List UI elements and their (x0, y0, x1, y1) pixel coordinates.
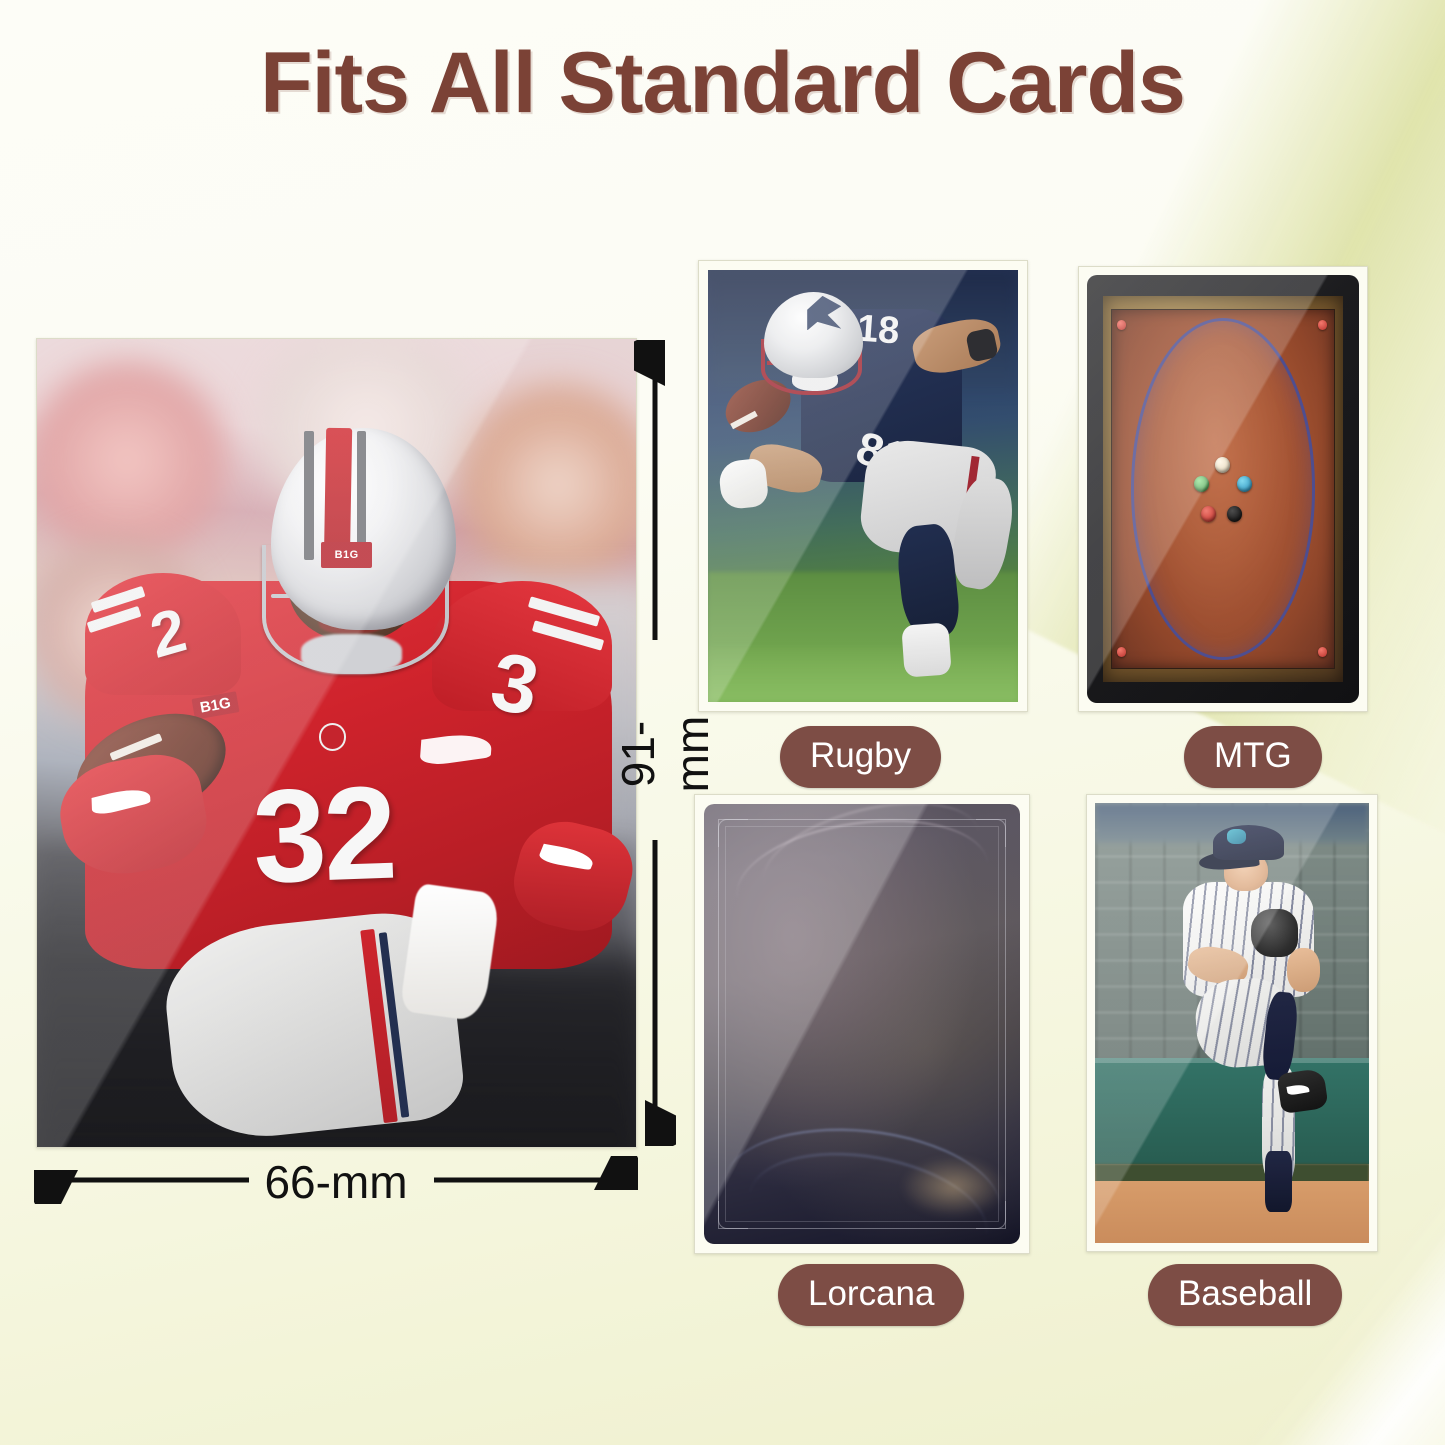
helmet-chinstrap (301, 634, 403, 674)
card-photo-baseball (1095, 803, 1369, 1243)
card-photo-main-football: 2 3 B1G 32 B (37, 339, 636, 1147)
card-photo-lorcana (704, 804, 1020, 1244)
page-title: Fits All Standard Cards (0, 34, 1445, 133)
player-hand-rugby (718, 458, 769, 510)
corner-ornament-bottom-right-lorcana (976, 1201, 1005, 1228)
helmet-stripe-grey-left (304, 431, 314, 560)
card-sleeve-baseball (1086, 794, 1378, 1252)
card-frame-inner-lorcana (725, 826, 1000, 1222)
card-label-rugby: Rugby (780, 726, 941, 788)
big-ten-logo-helmet: B1G (321, 542, 373, 568)
infield-dirt (1095, 1181, 1369, 1243)
mana-pip-blue-icon (1237, 476, 1252, 492)
card-label-mtg: MTG (1184, 726, 1322, 788)
card-label-lorcana: Lorcana (778, 1264, 964, 1326)
jersey-number-main: 32 (250, 757, 396, 913)
mana-pip-black-icon (1227, 506, 1242, 522)
card-sleeve-rugby: 18 81 (698, 260, 1028, 712)
card-sleeve-mtg (1078, 266, 1368, 712)
corner-ornament-top-left-lorcana (718, 819, 747, 846)
card-photo-rugby: 18 81 (708, 270, 1018, 702)
outfield-wall (1095, 1058, 1369, 1164)
card-sleeve-main-football: 2 3 B1G 32 B (36, 338, 637, 1148)
corner-ornament-top-right-lorcana (976, 819, 1005, 846)
pitcher-cap (1213, 825, 1284, 860)
baseball-glove (1251, 909, 1298, 957)
card-sleeve-lorcana (694, 794, 1030, 1254)
card-photo-mtg (1087, 275, 1359, 703)
pitcher-plant-sock (1265, 1151, 1292, 1213)
infographic-canvas: Fits All Standard Cards 2 3 B1G 32 (0, 0, 1445, 1445)
mana-pip-white-icon (1215, 457, 1230, 473)
corner-ornament-bottom-left-lorcana (718, 1201, 747, 1228)
cap-logo-icon (1227, 829, 1246, 844)
corner-gem-top-left-mtg (1117, 320, 1126, 330)
card-label-baseball: Baseball (1148, 1264, 1342, 1326)
card-oval-mtg (1131, 318, 1316, 660)
field-grass-foreground-rugby (708, 646, 1018, 702)
pitcher-arm-right (1287, 948, 1320, 992)
helmet-stripe-grey-right (357, 431, 367, 560)
width-dimension-label: 66-mm (34, 1155, 638, 1209)
player-sock-rugby (902, 623, 952, 678)
